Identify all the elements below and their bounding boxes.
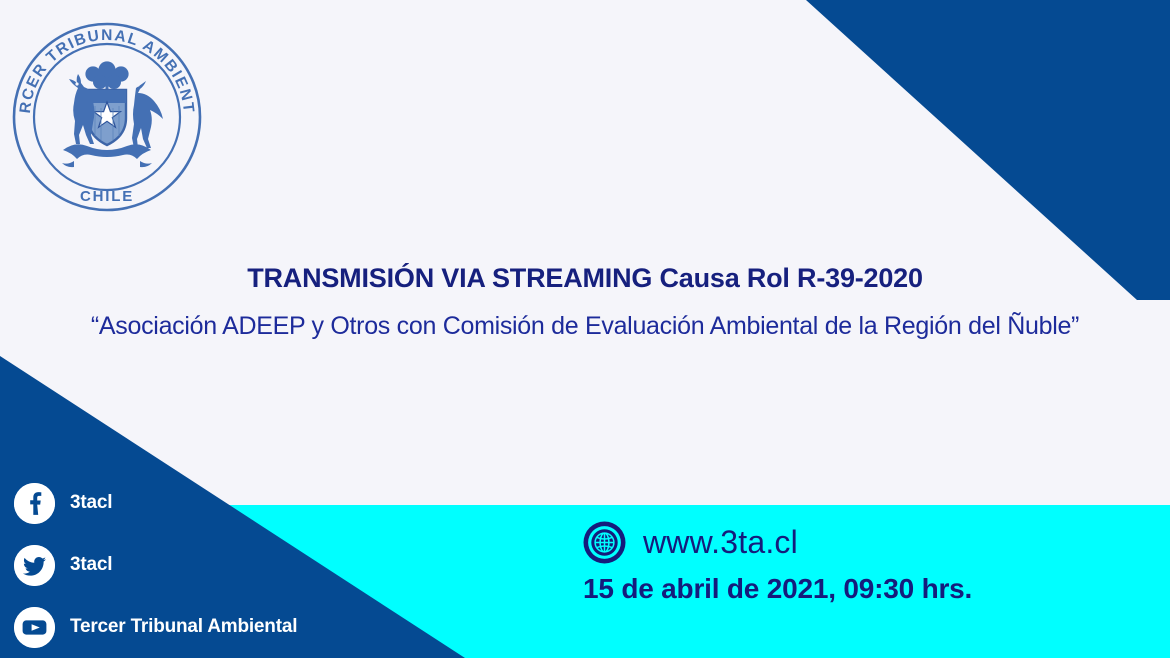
seal-country-label: CHILE	[80, 188, 134, 205]
contact-block: www.3ta.cl 15 de abril de 2021, 09:30 hr…	[583, 521, 1103, 605]
twitter-icon[interactable]	[14, 545, 55, 586]
social-media-list: 3tacl 3tacl Tercer Tribunal Ambiental	[14, 473, 434, 658]
social-item-twitter[interactable]: 3tacl	[14, 535, 434, 595]
globe-icon	[583, 521, 626, 564]
social-item-youtube[interactable]: Tercer Tribunal Ambiental	[14, 597, 434, 657]
social-item-facebook[interactable]: 3tacl	[14, 473, 434, 533]
streaming-announcement-poster: TERCER TRIBUNAL AMBIENTAL CHILE	[0, 0, 1170, 658]
social-handle-youtube: Tercer Tribunal Ambiental	[70, 616, 297, 638]
social-handle-twitter: 3tacl	[70, 554, 112, 576]
website-row[interactable]: www.3ta.cl	[583, 521, 1103, 564]
youtube-icon[interactable]	[14, 607, 55, 648]
event-title: TRANSMISIÓN VIA STREAMING Causa Rol R-39…	[0, 262, 1170, 294]
website-url[interactable]: www.3ta.cl	[643, 524, 798, 561]
facebook-icon[interactable]	[14, 483, 55, 524]
headline-block: TRANSMISIÓN VIA STREAMING Causa Rol R-39…	[0, 262, 1170, 341]
social-handle-facebook: 3tacl	[70, 492, 112, 514]
case-name: “Asociación ADEEP y Otros con Comisión d…	[0, 311, 1170, 341]
institution-seal-logo: TERCER TRIBUNAL AMBIENTAL CHILE	[8, 18, 206, 216]
event-datetime: 15 de abril de 2021, 09:30 hrs.	[583, 573, 1103, 605]
coat-of-arms-icon	[62, 61, 163, 167]
